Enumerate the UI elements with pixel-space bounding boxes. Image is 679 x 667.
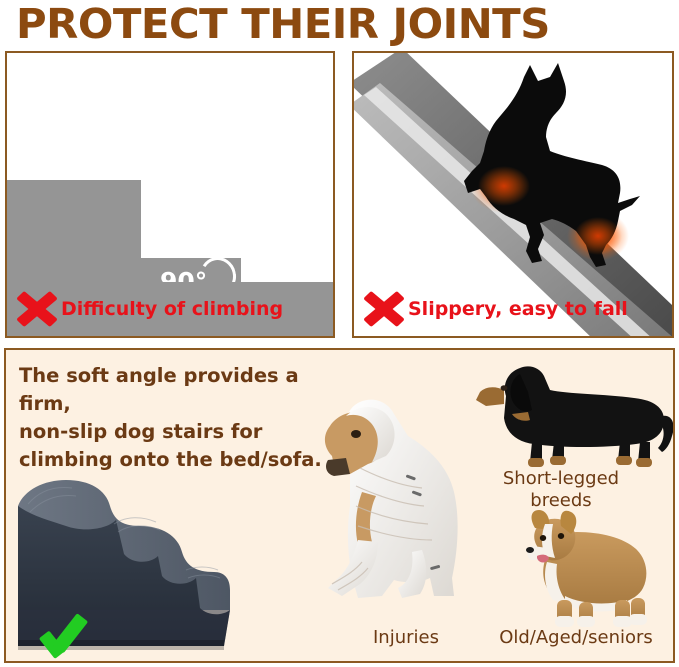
dachshund-image <box>458 356 675 474</box>
injured-dog-image <box>302 382 482 630</box>
panel-slippery-easy-to-fall: Slippery, easy to fall <box>352 51 674 338</box>
bandaged-dog-svg <box>302 382 482 630</box>
x-mark-icon <box>362 289 406 329</box>
page-title: PROTECT THEIR JOINTS <box>16 1 676 47</box>
infographic-page: PROTECT THEIR JOINTS 90° Difficulty of c… <box>0 0 679 667</box>
check-mark-icon <box>42 608 92 652</box>
dog-label-injuries: Injuries <box>326 627 486 649</box>
corgi-image <box>503 510 663 632</box>
dog-label-seniors: Old/Aged/seniors <box>476 627 675 649</box>
panel-product-benefits: The soft angle provides a firm, non-slip… <box>4 348 675 663</box>
corgi-svg <box>503 510 663 632</box>
panel-difficulty-of-climbing: 90° Difficulty of climbing <box>5 51 335 338</box>
caption-label-slippery: Slippery, easy to fall <box>408 298 628 320</box>
dachshund-svg <box>458 356 675 474</box>
caption-row-difficulty: Difficulty of climbing <box>7 282 333 336</box>
x-mark-icon <box>15 289 59 329</box>
dog-label-short-legged: Short-legged breeds <box>466 468 656 512</box>
caption-row-slippery: Slippery, easy to fall <box>354 282 672 336</box>
caption-label-difficulty: Difficulty of climbing <box>61 298 283 320</box>
foam-dog-stairs-image <box>10 460 232 660</box>
product-headline: The soft angle provides a firm, non-slip… <box>19 362 349 474</box>
